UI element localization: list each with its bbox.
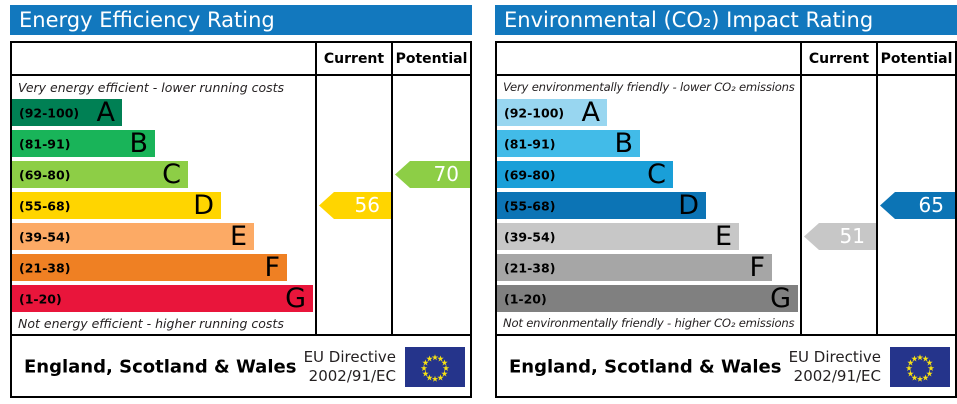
band-d: (55-68) D bbox=[497, 192, 706, 219]
chart-title-bar: Energy Efficiency Rating bbox=[10, 5, 472, 35]
column-divider-current bbox=[800, 76, 802, 334]
eu-flag-icon bbox=[405, 347, 465, 387]
band-c-range: (69-80) bbox=[19, 167, 70, 182]
column-divider-current bbox=[315, 76, 317, 334]
column-header-current: Current bbox=[315, 43, 391, 74]
column-header-potential-label: Potential bbox=[881, 51, 953, 67]
band-d-letter: D bbox=[678, 191, 699, 218]
rating-table-frame: Current Potential Very energy efficient … bbox=[10, 41, 472, 398]
potential-rating-arrow: 70 bbox=[395, 161, 470, 188]
band-f: (21-38) F bbox=[12, 254, 287, 281]
column-header-potential: Potential bbox=[391, 43, 470, 74]
country-label: England, Scotland & Wales bbox=[509, 357, 781, 378]
band-e: (39-54) E bbox=[12, 223, 254, 250]
band-d-letter: D bbox=[193, 191, 214, 218]
caption-top: Very environmentally friendly - lower CO… bbox=[503, 79, 795, 96]
potential-rating-value: 70 bbox=[434, 162, 459, 186]
band-a: (92-100) A bbox=[497, 99, 607, 126]
band-e-range: (39-54) bbox=[19, 229, 70, 244]
current-rating-value: 51 bbox=[840, 224, 865, 248]
eu-directive-line1: EU Directive bbox=[769, 348, 881, 367]
band-c-letter: C bbox=[647, 160, 666, 187]
band-a-range: (92-100) bbox=[19, 105, 79, 120]
band-list: (92-100) A (81-91) B (69-80) C (55-68) D… bbox=[12, 99, 313, 314]
band-g-letter: G bbox=[770, 284, 791, 311]
band-d: (55-68) D bbox=[12, 192, 221, 219]
band-b-letter: B bbox=[614, 129, 633, 156]
country-label: England, Scotland & Wales bbox=[24, 357, 296, 378]
column-header-potential: Potential bbox=[876, 43, 955, 74]
band-list: (92-100) A (81-91) B (69-80) C (55-68) D… bbox=[497, 99, 798, 314]
potential-rating-value: 65 bbox=[919, 193, 944, 217]
caption-top: Very energy efficient - lower running co… bbox=[18, 79, 310, 96]
band-f-range: (21-38) bbox=[19, 260, 70, 275]
band-b-range: (81-91) bbox=[19, 136, 70, 151]
band-f-letter: F bbox=[264, 253, 280, 280]
band-a: (92-100) A bbox=[12, 99, 122, 126]
caption-bottom: Not environmentally friendly - higher CO… bbox=[503, 315, 795, 332]
band-e-letter: E bbox=[230, 222, 247, 249]
band-f-letter: F bbox=[749, 253, 765, 280]
page-title: Energy Efficiency Rating bbox=[19, 8, 275, 32]
current-rating-value: 56 bbox=[355, 193, 380, 217]
band-c-range: (69-80) bbox=[504, 167, 555, 182]
current-rating-arrow: 51 bbox=[804, 223, 876, 250]
chart-title-bar: Environmental (CO₂) Impact Rating bbox=[495, 5, 957, 35]
eu-directive-line2: 2002/91/EC bbox=[284, 367, 396, 386]
band-b: (81-91) B bbox=[12, 130, 155, 157]
band-g: (1-20) G bbox=[12, 285, 313, 312]
chart-footer: England, Scotland & Wales EU Directive 2… bbox=[497, 334, 955, 398]
eu-flag-icon bbox=[890, 347, 950, 387]
band-e-range: (39-54) bbox=[504, 229, 555, 244]
band-f-range: (21-38) bbox=[504, 260, 555, 275]
potential-rating-arrow: 65 bbox=[880, 192, 955, 219]
band-b-letter: B bbox=[129, 129, 148, 156]
current-rating-arrow: 56 bbox=[319, 192, 391, 219]
band-f: (21-38) F bbox=[497, 254, 772, 281]
band-g-range: (1-20) bbox=[504, 291, 547, 306]
page-title: Environmental (CO₂) Impact Rating bbox=[504, 8, 873, 32]
band-c-letter: C bbox=[162, 160, 181, 187]
table-header-row: Current Potential bbox=[12, 43, 470, 76]
column-divider-potential bbox=[876, 76, 878, 334]
column-divider-potential bbox=[391, 76, 393, 334]
caption-bottom: Not energy efficient - higher running co… bbox=[18, 315, 310, 332]
band-e-letter: E bbox=[715, 222, 732, 249]
eu-directive-line2: 2002/91/EC bbox=[769, 367, 881, 386]
rating-table-frame: Current Potential Very environmentally f… bbox=[495, 41, 957, 398]
band-c: (69-80) C bbox=[12, 161, 188, 188]
band-b-range: (81-91) bbox=[504, 136, 555, 151]
eu-directive-label: EU Directive 2002/91/EC bbox=[769, 348, 881, 386]
band-b: (81-91) B bbox=[497, 130, 640, 157]
band-g-range: (1-20) bbox=[19, 291, 62, 306]
band-a-range: (92-100) bbox=[504, 105, 564, 120]
band-d-range: (55-68) bbox=[504, 198, 555, 213]
table-header-row: Current Potential bbox=[497, 43, 955, 76]
eu-directive-label: EU Directive 2002/91/EC bbox=[284, 348, 396, 386]
column-header-current: Current bbox=[800, 43, 876, 74]
chart-footer: England, Scotland & Wales EU Directive 2… bbox=[12, 334, 470, 398]
band-g: (1-20) G bbox=[497, 285, 798, 312]
band-d-range: (55-68) bbox=[19, 198, 70, 213]
column-header-current-label: Current bbox=[809, 51, 869, 67]
epc-chart-page: Energy Efficiency Rating Current Potenti… bbox=[0, 0, 957, 404]
band-a-letter: A bbox=[582, 98, 600, 125]
eu-directive-line1: EU Directive bbox=[284, 348, 396, 367]
column-header-potential-label: Potential bbox=[396, 51, 468, 67]
band-g-letter: G bbox=[285, 284, 306, 311]
band-c: (69-80) C bbox=[497, 161, 673, 188]
band-e: (39-54) E bbox=[497, 223, 739, 250]
column-header-current-label: Current bbox=[324, 51, 384, 67]
environmental-impact-rating-chart: Environmental (CO₂) Impact Rating Curren… bbox=[487, 0, 957, 404]
energy-efficiency-rating-chart: Energy Efficiency Rating Current Potenti… bbox=[2, 0, 474, 404]
band-a-letter: A bbox=[97, 98, 115, 125]
